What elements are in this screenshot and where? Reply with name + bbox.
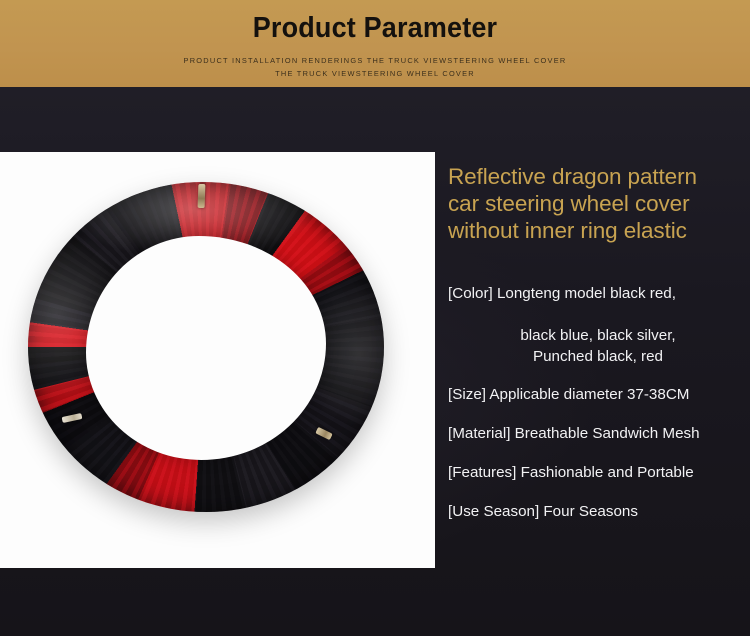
- spec-color: [Color] Longteng model black red, black …: [448, 262, 748, 367]
- steering-wheel-cover-photo: [28, 182, 384, 512]
- page-title: Product Parameter: [26, 12, 724, 45]
- spec-use-season: [Use Season] Four Seasons: [448, 501, 748, 522]
- spec-size: [Size] Applicable diameter 37-38CM: [448, 384, 748, 405]
- product-name-heading: Reflective dragon pattern car steering w…: [448, 163, 748, 244]
- product-info-column: Reflective dragon pattern car steering w…: [448, 163, 748, 540]
- header-subtitle-line-2: THE TRUCK VIEWSTEERING WHEEL COVER: [0, 69, 750, 78]
- spec-material: [Material] Breathable Sandwich Mesh: [448, 423, 748, 444]
- header-subtitle-line-1: PRODUCT INSTALLATION RENDERINGS THE TRUC…: [0, 56, 750, 65]
- cover-clip-top-icon: [198, 184, 206, 208]
- spec-color-continuation: black blue, black silver, Punched black,…: [520, 327, 675, 365]
- page-header-band: Product Parameter PRODUCT INSTALLATION R…: [0, 0, 750, 87]
- spec-features: [Features] Fashionable and Portable: [448, 462, 748, 483]
- product-photo-panel: [0, 152, 435, 568]
- spec-color-first-line: [Color] Longteng model black red,: [448, 283, 748, 304]
